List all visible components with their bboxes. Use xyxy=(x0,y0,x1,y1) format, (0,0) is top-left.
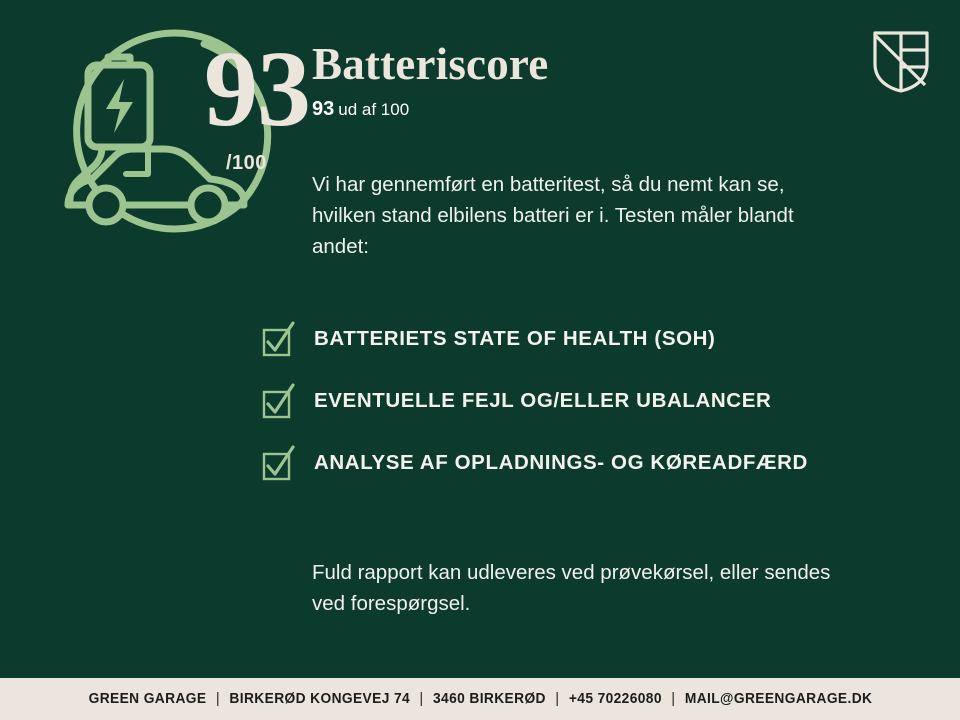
footer-bar: GREEN GARAGE | BIRKERØD KONGEVEJ 74 | 34… xyxy=(0,678,960,720)
checklist: BATTERIETS STATE OF HEALTH (SOH) EVENTUE… xyxy=(262,308,902,494)
list-item: BATTERIETS STATE OF HEALTH (SOH) xyxy=(262,308,902,370)
battery-score-infographic: 93 /100 Batteriscore 93ud af 100 Vi har … xyxy=(0,0,960,720)
checklist-item-label: EVENTUELLE FEJL OG/ELLER UBALANCER xyxy=(314,389,771,413)
footer-separator: | xyxy=(410,691,433,707)
checklist-item-label: BATTERIETS STATE OF HEALTH (SOH) xyxy=(314,327,715,351)
score-value: 93 xyxy=(204,36,310,144)
score-subtitle: 93ud af 100 xyxy=(312,99,912,120)
footer-email[interactable]: MAIL@GREENGARAGE.DK xyxy=(684,691,871,707)
footer-separator: | xyxy=(206,691,229,707)
footer-separator: | xyxy=(661,691,684,707)
intro-paragraph: Vi har gennemført en batteritest, så du … xyxy=(312,169,842,262)
lightning-bolt-icon xyxy=(106,79,133,133)
footer-contact-line: GREEN GARAGE | BIRKERØD KONGEVEJ 74 | 34… xyxy=(88,691,872,707)
footer-separator: | xyxy=(545,691,568,707)
checklist-item-label: ANALYSE AF OPLADNINGS- OG KØREADFÆRD xyxy=(314,451,808,475)
checkbox-checked-icon xyxy=(262,321,296,357)
checkbox-checked-icon xyxy=(262,383,296,419)
content-column: Batteriscore 93ud af 100 Vi har gennemfø… xyxy=(312,38,912,283)
page-title: Batteriscore xyxy=(312,38,912,90)
subtitle-rest: ud af 100 xyxy=(334,100,409,119)
footer-phone[interactable]: +45 70226080 xyxy=(568,691,661,707)
battery-score-badge: 93 /100 xyxy=(44,22,294,240)
checkbox-checked-icon xyxy=(262,445,296,481)
list-item: ANALYSE AF OPLADNINGS- OG KØREADFÆRD xyxy=(262,432,902,494)
footer-company-name: GREEN GARAGE xyxy=(88,691,206,707)
footer-postal-city: 3460 BIRKERØD xyxy=(432,691,545,707)
outro-paragraph: Fuld rapport kan udleveres ved prøvekørs… xyxy=(312,557,852,619)
subtitle-score: 93 xyxy=(312,98,334,120)
list-item: EVENTUELLE FEJL OG/ELLER UBALANCER xyxy=(262,370,902,432)
footer-street-address: BIRKERØD KONGEVEJ 74 xyxy=(229,691,410,707)
score-out-of-label: /100 xyxy=(226,152,267,175)
car-front-wheel-icon xyxy=(89,188,123,222)
car-rear-wheel-icon xyxy=(191,188,225,222)
